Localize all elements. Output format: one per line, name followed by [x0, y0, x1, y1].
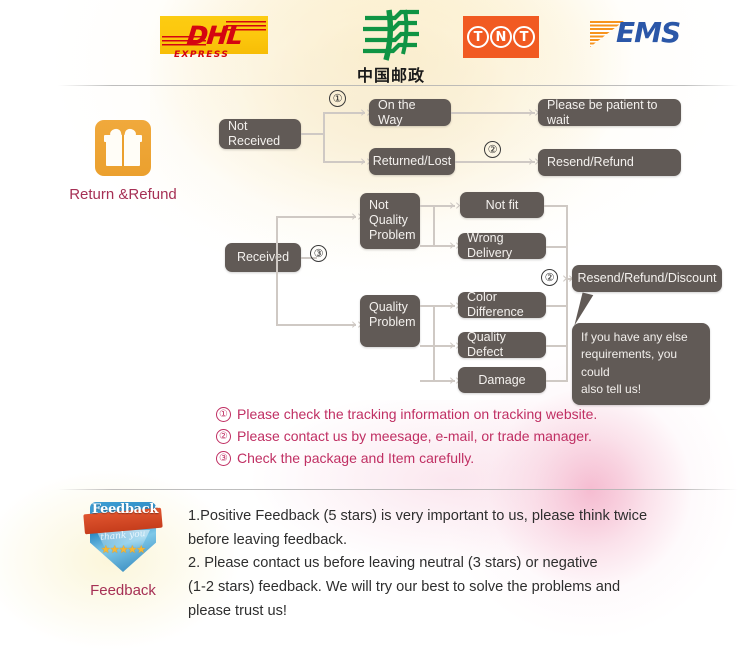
flow-box-color-difference: Color Difference	[458, 292, 546, 318]
feedback-stars: ★★★★★	[96, 544, 150, 555]
flow-callout-extra-requirements: If you have any else requirements, you c…	[572, 323, 710, 405]
note-number: ①	[216, 407, 231, 422]
notes-list: ① Please check the tracking information …	[216, 406, 696, 472]
returns-flowchart: Not Received ›› ›› ① On the Way Returned…	[0, 0, 750, 430]
marker-2-discount: ②	[541, 269, 558, 286]
note-number: ②	[216, 429, 231, 444]
feedback-shield-icon: Feedback thank you ★★★★★	[86, 500, 160, 576]
flow-box-on-the-way: On the Way	[369, 99, 451, 126]
connector-h	[546, 380, 568, 382]
promo-banner: DHL EXPRESS 中国邮政 T N T EMS	[0, 0, 750, 651]
flow-box-returned-lost: Returned/Lost	[369, 148, 455, 175]
note-item-2: ② Please contact us by meesage, e-mail, …	[216, 428, 696, 444]
feedback-label: Feedback	[58, 582, 188, 599]
connector-h	[546, 246, 568, 248]
note-item-1: ① Please check the tracking information …	[216, 406, 696, 422]
marker-3: ③	[310, 245, 327, 262]
connector-v	[566, 205, 568, 381]
flow-box-quality-defect: Quality Defect	[458, 332, 546, 358]
flow-box-resend-refund: Resend/Refund	[538, 149, 681, 176]
marker-2: ②	[484, 141, 501, 158]
connector-v	[323, 113, 325, 163]
note-text: Check the package and Item carefully.	[237, 450, 474, 466]
connector-h	[276, 216, 356, 218]
connector-v	[276, 216, 278, 326]
connector-v	[433, 205, 435, 246]
connector-h	[276, 324, 356, 326]
feedback-paragraph: 1.Positive Feedback (5 stars) is very im…	[188, 505, 728, 623]
flow-box-be-patient: Please be patient to wait	[538, 99, 681, 126]
marker-1: ①	[329, 90, 346, 107]
star-rating: ★★★★★	[101, 544, 145, 556]
divider-middle	[58, 489, 738, 490]
flow-box-quality-problem: Quality Problem	[360, 295, 420, 347]
flow-box-not-received: Not Received	[219, 119, 301, 149]
feedback-badge: Feedback thank you ★★★★★ Feedback	[58, 500, 188, 599]
note-text: Please contact us by meesage, e-mail, or…	[237, 428, 592, 444]
connector-h	[455, 161, 535, 163]
flow-box-not-fit: Not fit	[460, 192, 544, 218]
feedback-badge-title: Feedback	[86, 501, 164, 519]
connector-h	[323, 112, 365, 114]
connector-h	[323, 161, 365, 163]
note-text: Please check the tracking information on…	[237, 406, 597, 422]
connector-h	[301, 133, 323, 135]
connector-v	[433, 305, 435, 381]
note-item-3: ③ Check the package and Item carefully.	[216, 450, 696, 466]
connector-h	[546, 345, 568, 347]
flow-box-wrong-delivery: Wrong Delivery	[458, 233, 546, 259]
flow-box-resend-refund-discount: Resend/Refund/Discount	[572, 265, 722, 292]
connector-h	[544, 205, 568, 207]
flow-box-not-quality-problem: Not Quality Problem	[360, 193, 420, 249]
note-number: ③	[216, 451, 231, 466]
connector-h	[451, 112, 535, 114]
flow-box-damage: Damage	[458, 367, 546, 393]
flow-box-received: Received	[225, 243, 301, 272]
connector-h	[546, 305, 568, 307]
